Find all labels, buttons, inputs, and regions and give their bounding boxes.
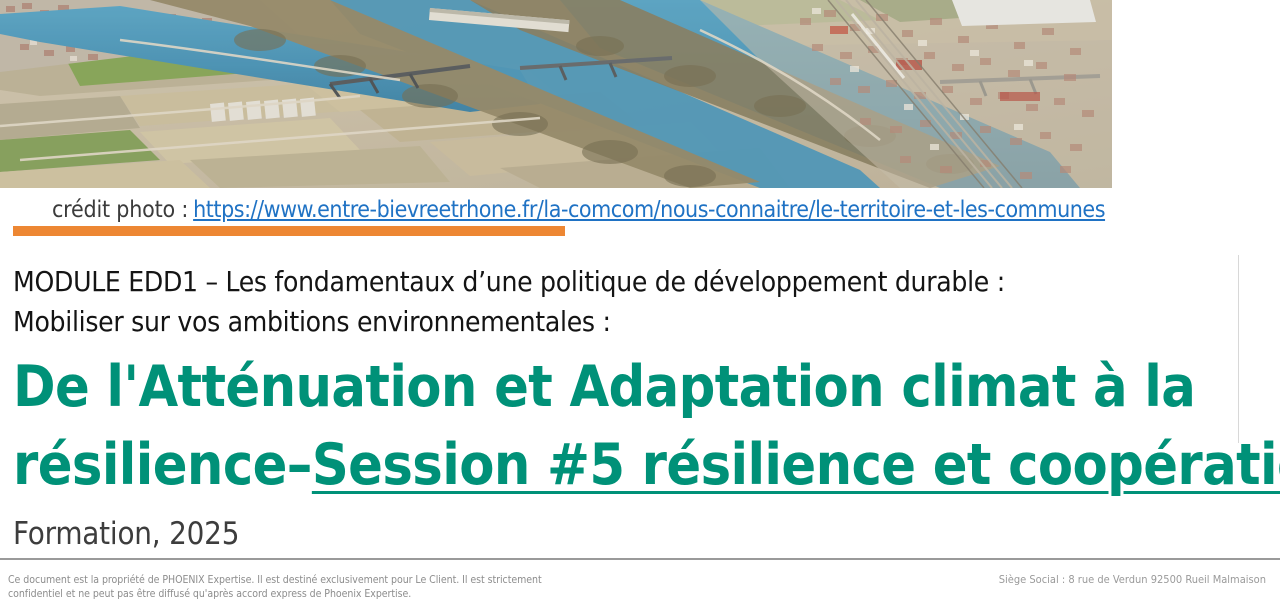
event-label: Formation, 2025	[13, 516, 239, 552]
module-line-2: Mobiliser sur vos ambitions environnemen…	[13, 302, 1143, 342]
page-title: De l'Atténuation et Adaptation climat à …	[13, 348, 1253, 504]
slide-canvas: crédit photo : https://www.entre-bievree…	[0, 0, 1280, 606]
photo-credit: crédit photo : https://www.entre-bievree…	[0, 193, 1180, 227]
photo-credit-label: crédit photo :	[0, 197, 188, 223]
module-subtitle-block: MODULE EDD1 – Les fondamentaux d’une pol…	[13, 262, 1143, 342]
slide-footer: Ce document est la propriété de PHOENIX …	[0, 563, 1280, 606]
footer-divider	[0, 558, 1280, 560]
title-line-2: résilience–Session #5 résilience et coop…	[13, 426, 1253, 504]
aerial-photo-illustration	[0, 0, 1112, 188]
orange-accent-bar	[13, 226, 565, 236]
footer-notice-line-2: confidentiel et ne peut pas être diffusé…	[8, 587, 668, 601]
title-line-2-plain: résilience–	[13, 432, 312, 498]
hero-aerial-photo	[0, 0, 1112, 188]
module-line-1: MODULE EDD1 – Les fondamentaux d’une pol…	[13, 262, 1143, 302]
title-line-2-underlined: Session #5 résilience et coopération	[312, 432, 1280, 498]
footer-confidentiality-notice: Ce document est la propriété de PHOENIX …	[8, 573, 668, 601]
footer-notice-line-1: Ce document est la propriété de PHOENIX …	[8, 573, 668, 587]
photo-credit-link[interactable]: https://www.entre-bievreetrhone.fr/la-co…	[193, 197, 1105, 223]
footer-company-address: Siège Social : 8 rue de Verdun 92500 Rue…	[999, 573, 1266, 587]
title-line-1: De l'Atténuation et Adaptation climat à …	[13, 348, 1253, 426]
